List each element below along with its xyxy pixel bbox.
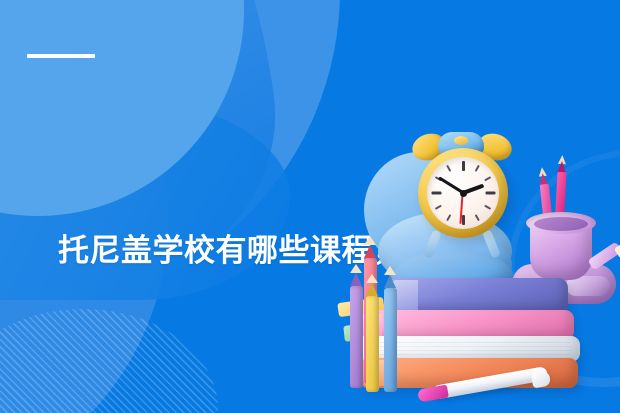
- pencil-yellow: [366, 296, 379, 392]
- clock-top-knob: [454, 136, 468, 145]
- clock-tick: [435, 205, 442, 210]
- clock-body: [418, 148, 508, 238]
- cup-opening: [534, 217, 588, 231]
- clock-center-cap: [460, 190, 467, 197]
- clock-tick: [462, 161, 465, 171]
- clock-tick: [484, 176, 491, 181]
- pencil-purple: [350, 286, 363, 388]
- clock-tick: [431, 192, 441, 195]
- pencil-blue: [384, 288, 397, 392]
- clock-tick: [484, 205, 491, 210]
- stationery-illustration: [336, 128, 620, 413]
- clock-tick: [475, 165, 480, 172]
- clock-tick: [446, 214, 451, 221]
- accent-dash: [27, 54, 95, 58]
- alarm-clock-icon: [410, 134, 514, 252]
- clock-tick: [485, 192, 495, 195]
- promo-banner: 托尼盖学校有哪些课程，才算系 统的技术，学习汤尼盖: [0, 0, 620, 413]
- clock-tick: [475, 214, 480, 221]
- clock-tick: [446, 165, 451, 172]
- clock-face: [427, 157, 499, 229]
